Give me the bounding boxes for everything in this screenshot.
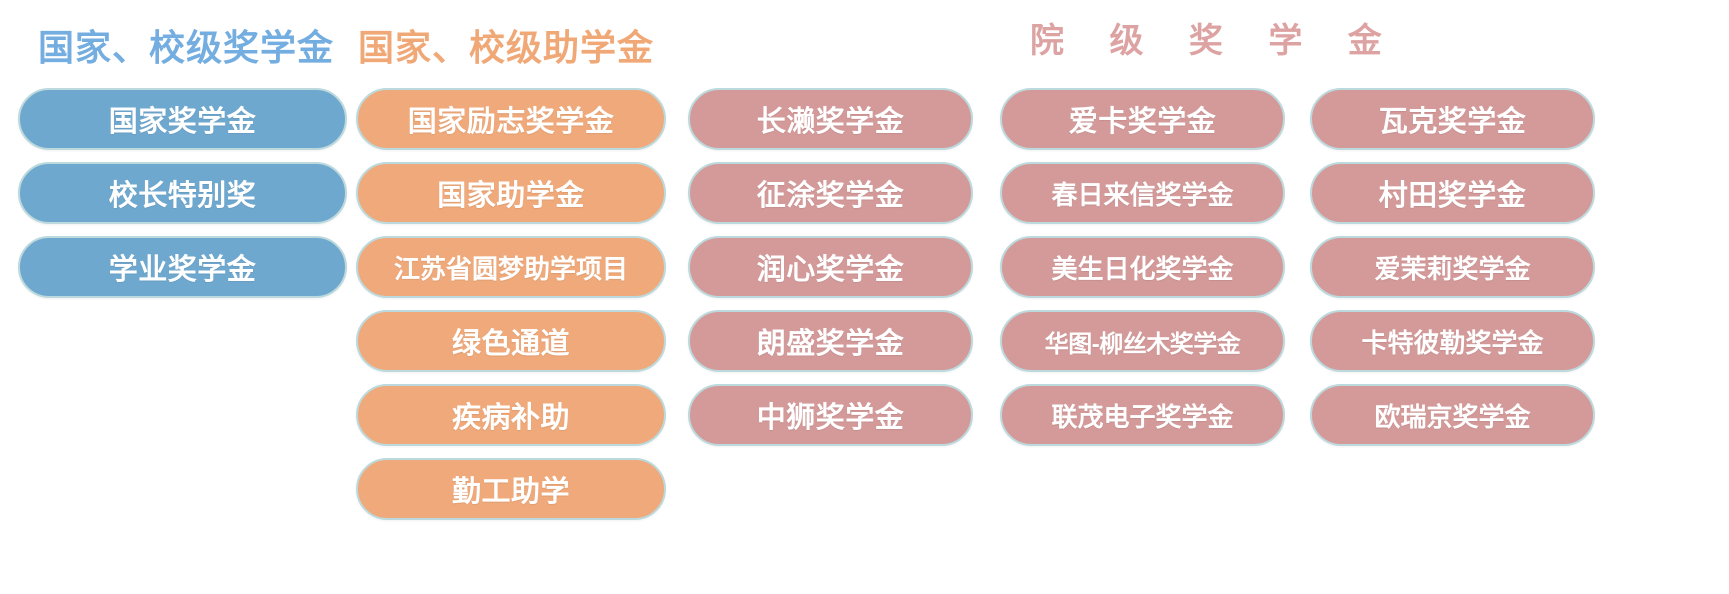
pill-item[interactable]: 校长特别奖 (18, 162, 347, 224)
scholarship-diagram: 国家、校级奖学金 国家、校级助学金 院 级 奖 学 金 国家奖学金 校长特别奖 … (0, 0, 1729, 594)
heading-national-school-grant: 国家、校级助学金 (358, 30, 654, 66)
heading-college-scholarship: 院 级 奖 学 金 (1030, 24, 1400, 58)
column-national-school-scholarship: 国家奖学金 校长特别奖 学业奖学金 (18, 88, 347, 298)
pill-item[interactable]: 爱茉莉奖学金 (1310, 236, 1595, 298)
pill-item[interactable]: 华图-柳丝木奖学金 (1000, 310, 1285, 372)
pill-item[interactable]: 欧瑞京奖学金 (1310, 384, 1595, 446)
column-national-school-grant: 国家励志奖学金 国家助学金 江苏省圆梦助学项目 绿色通道 疾病补助 勤工助学 (356, 88, 666, 520)
pill-item[interactable]: 绿色通道 (356, 310, 666, 372)
pill-item[interactable]: 春日来信奖学金 (1000, 162, 1285, 224)
pill-item[interactable]: 国家奖学金 (18, 88, 347, 150)
pill-item[interactable]: 勤工助学 (356, 458, 666, 520)
pill-item[interactable]: 村田奖学金 (1310, 162, 1595, 224)
pill-item[interactable]: 朗盛奖学金 (688, 310, 973, 372)
pill-item[interactable]: 美生日化奖学金 (1000, 236, 1285, 298)
pill-item[interactable]: 联茂电子奖学金 (1000, 384, 1285, 446)
pill-item[interactable]: 江苏省圆梦助学项目 (356, 236, 666, 298)
pill-item[interactable]: 中狮奖学金 (688, 384, 973, 446)
column-college-scholarship-1: 长濑奖学金 征涂奖学金 润心奖学金 朗盛奖学金 中狮奖学金 (688, 88, 973, 446)
pill-item[interactable]: 卡特彼勒奖学金 (1310, 310, 1595, 372)
pill-item[interactable]: 瓦克奖学金 (1310, 88, 1595, 150)
column-college-scholarship-2: 爱卡奖学金 春日来信奖学金 美生日化奖学金 华图-柳丝木奖学金 联茂电子奖学金 (1000, 88, 1285, 446)
pill-item[interactable]: 润心奖学金 (688, 236, 973, 298)
pill-item[interactable]: 学业奖学金 (18, 236, 347, 298)
pill-item[interactable]: 爱卡奖学金 (1000, 88, 1285, 150)
column-college-scholarship-3: 瓦克奖学金 村田奖学金 爱茉莉奖学金 卡特彼勒奖学金 欧瑞京奖学金 (1310, 88, 1595, 446)
heading-national-school-scholarship: 国家、校级奖学金 (38, 30, 334, 66)
pill-item[interactable]: 长濑奖学金 (688, 88, 973, 150)
pill-item[interactable]: 疾病补助 (356, 384, 666, 446)
pill-item[interactable]: 征涂奖学金 (688, 162, 973, 224)
pill-item[interactable]: 国家励志奖学金 (356, 88, 666, 150)
pill-item[interactable]: 国家助学金 (356, 162, 666, 224)
